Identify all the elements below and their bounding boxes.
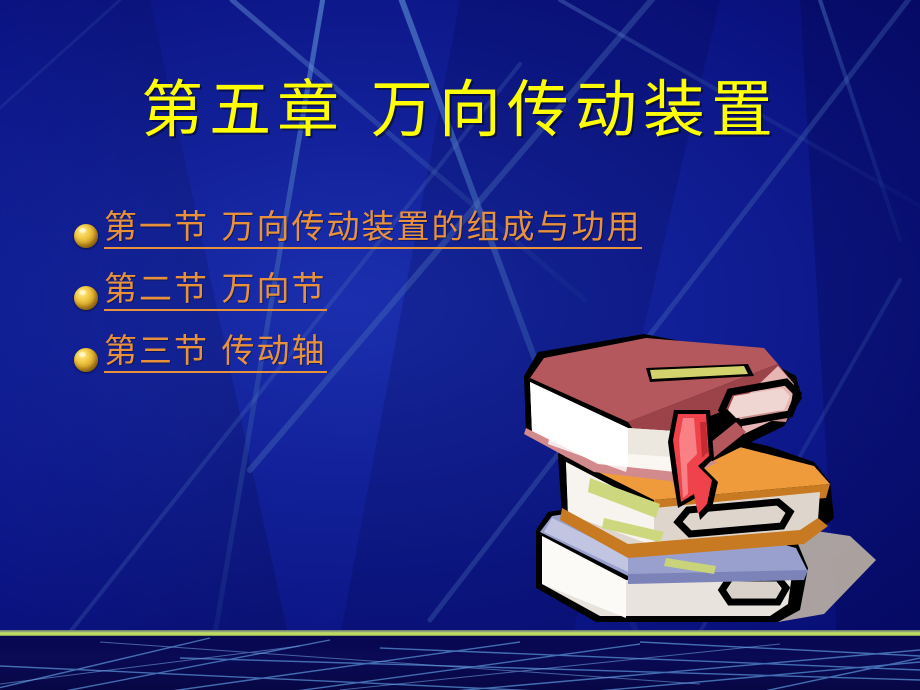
section-link-1[interactable]: 第一节 万向传动装置的组成与功用 <box>104 210 642 249</box>
slide-title: 第五章 万向传动装置 <box>0 78 920 142</box>
list-item[interactable]: 第一节 万向传动装置的组成与功用 <box>74 210 864 272</box>
section-link-3[interactable]: 第三节 传动轴 <box>104 334 327 373</box>
gold-sphere-bullet-icon <box>74 224 98 248</box>
stack-of-books-clipart <box>478 322 890 634</box>
section-link-2[interactable]: 第二节 万向节 <box>104 272 327 311</box>
footer-diagonal-lines-decoration <box>0 636 920 690</box>
gold-sphere-bullet-icon <box>74 348 98 372</box>
footer-band <box>0 636 920 690</box>
gold-sphere-bullet-icon <box>74 286 98 310</box>
presentation-slide: 第五章 万向传动装置 第一节 万向传动装置的组成与功用 第二节 万向节 第三节 … <box>0 0 920 690</box>
